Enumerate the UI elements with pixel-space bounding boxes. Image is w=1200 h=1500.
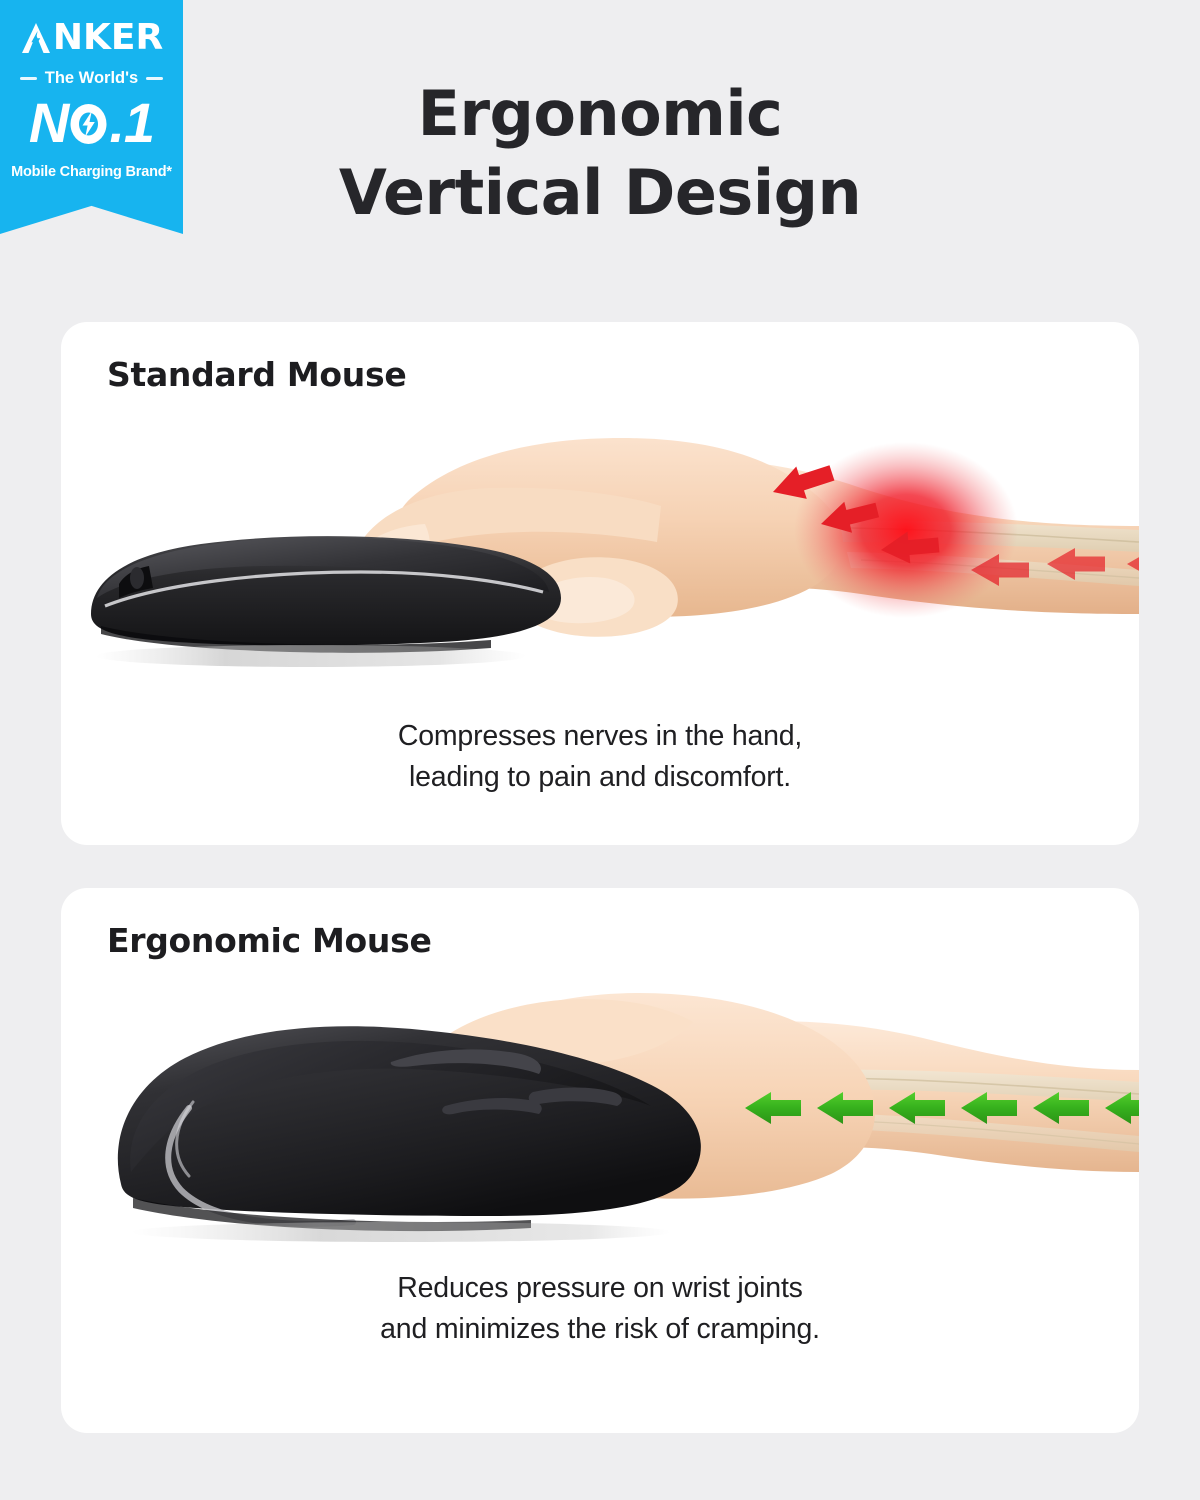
badge-rank: N .1 [0,94,183,153]
card-standard-caption: Compresses nerves in the hand, leading t… [61,716,1139,798]
mouse-shadow [131,1222,671,1242]
card-ergonomic-title: Ergonomic Mouse [107,921,432,960]
card-ergonomic-caption: Reduces pressure on wrist joints and min… [61,1268,1139,1350]
page-title-line1: Ergonomic [418,77,783,150]
ergonomic-mouse-photo [61,966,1139,1256]
caption-line-2: leading to pain and discomfort. [61,757,1139,798]
badge-rank-suffix: .1 [109,94,154,153]
dash-left-icon [20,77,37,80]
mouse-shadow [96,645,526,667]
caption-line-1: Reduces pressure on wrist joints [61,1268,1139,1309]
anker-logo: NKER [0,20,183,56]
scroll-wheel [130,567,144,589]
card-standard-mouse: Standard Mouse [61,322,1139,845]
badge-tagline-row: The World's [0,69,183,88]
badge-rank-prefix: N [29,94,68,153]
caption-line-2: and minimizes the risk of cramping. [61,1309,1139,1350]
card-standard-title: Standard Mouse [107,355,406,394]
badge-o-bolt-icon [67,100,110,146]
card-ergonomic-mouse: Ergonomic Mouse [61,888,1139,1433]
anker-a-bolt-icon [20,21,52,55]
anker-logo-text: NKER [53,20,163,56]
badge-subtitle: Mobile Charging Brand* [0,164,183,180]
dash-right-icon [146,77,163,80]
standard-mouse-photo [61,402,1139,702]
badge-tagline: The World's [45,69,138,88]
caption-line-1: Compresses nerves in the hand, [61,716,1139,757]
anker-brand-badge: NKER The World's N .1 Mobile Charging Br… [0,0,183,234]
